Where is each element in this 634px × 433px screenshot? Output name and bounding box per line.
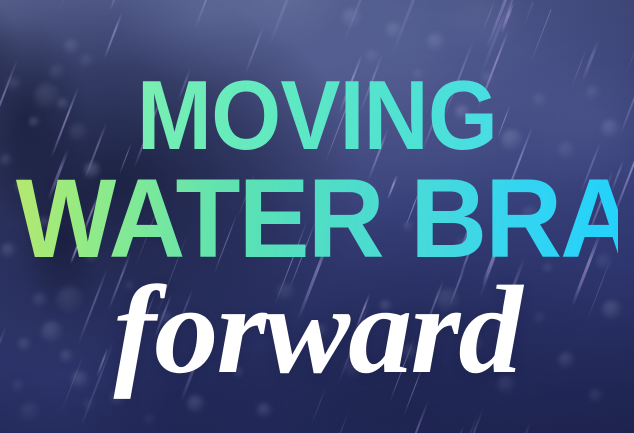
headline-script-word: forward: [0, 268, 634, 394]
headline-line-2: WATER BRANDS: [16, 167, 618, 270]
headline-line-1: MOVING: [25, 70, 608, 160]
promo-banner: MOVING WATER BRANDS forward: [0, 0, 634, 433]
headline-copy-block: MOVING WATER BRANDS forward: [0, 0, 634, 433]
